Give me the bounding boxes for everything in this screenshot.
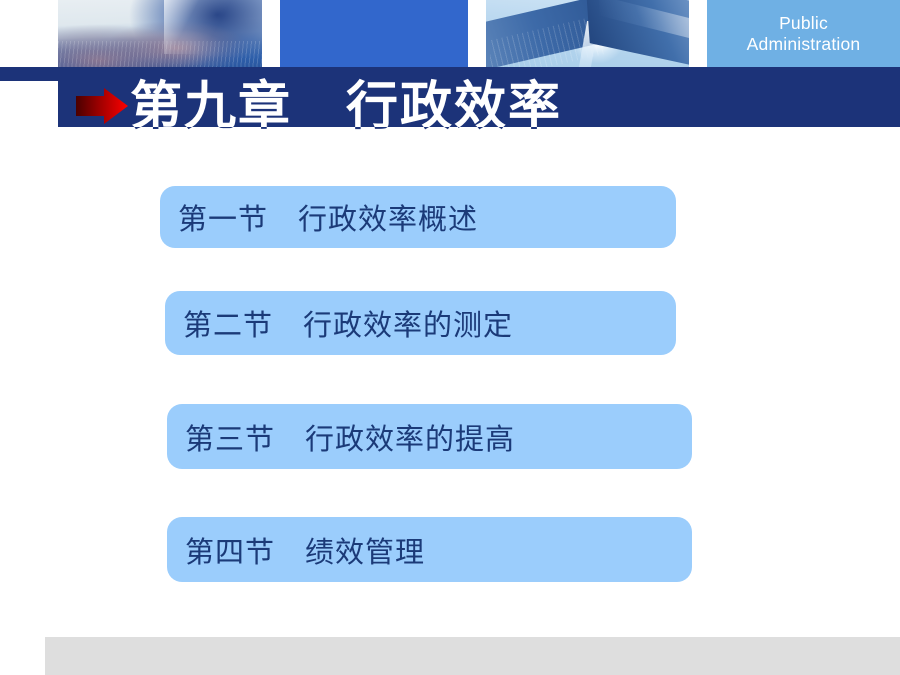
hands-on-keyboard-photo <box>58 0 262 67</box>
course-caption-line2: Administration <box>747 34 861 55</box>
section-item-4[interactable]: 第四节 绩效管理 <box>167 517 692 582</box>
course-caption-panel: Public Administration <box>707 0 900 67</box>
presentation-slide: Public Administration 第九章 行政效率 第九章 行政效率 <box>0 0 900 675</box>
course-caption: Public Administration <box>747 13 861 55</box>
footer-bar <box>45 637 900 675</box>
section-item-1-label: 第一节 行政效率概述 <box>160 196 478 238</box>
chapter-title-overhang: 第九章 行政效率 <box>0 127 900 187</box>
right-arrow-icon <box>76 88 128 124</box>
slide-banner: Public Administration <box>0 0 900 67</box>
section-item-3-label: 第三节 行政效率的提高 <box>167 416 515 458</box>
title-bar <box>58 67 900 127</box>
section-item-4-label: 第四节 绩效管理 <box>167 529 425 571</box>
section-item-2[interactable]: 第二节 行政效率的测定 <box>165 291 676 355</box>
section-item-2-label: 第二节 行政效率的测定 <box>165 302 513 344</box>
page-title-overflow: 第九章 行政效率 <box>130 127 562 139</box>
section-item-1[interactable]: 第一节 行政效率概述 <box>160 186 676 248</box>
solid-blue-panel <box>280 0 468 67</box>
photo-motion-streaks <box>58 41 262 67</box>
course-caption-line1: Public <box>747 13 861 34</box>
skyscrapers-photo <box>486 0 689 67</box>
section-item-3[interactable]: 第三节 行政效率的提高 <box>167 404 692 469</box>
